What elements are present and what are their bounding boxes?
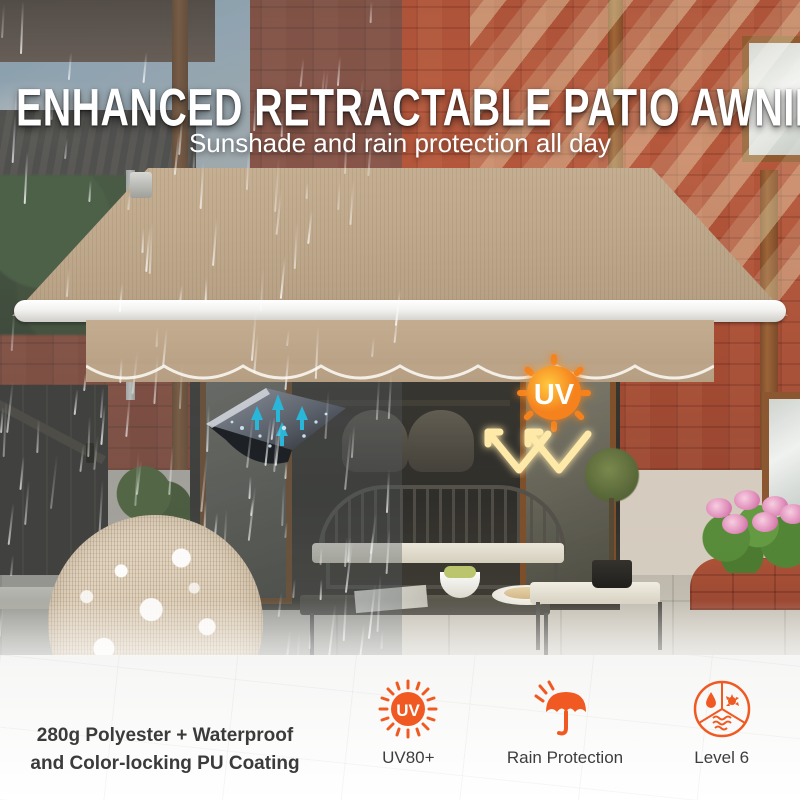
uv-badge-label: UV xyxy=(534,379,575,411)
rain-drop xyxy=(282,484,286,526)
rain-drop xyxy=(93,435,99,470)
page-subtitle: Sunshade and rain protection all day xyxy=(0,128,800,159)
rain-drop xyxy=(23,152,28,204)
rain-drop xyxy=(142,227,145,252)
rain-drop xyxy=(87,416,91,457)
rain-drop xyxy=(154,355,159,404)
rain-drop xyxy=(344,431,352,490)
uv-sun-icon: UV xyxy=(462,350,646,478)
rain-drop xyxy=(80,445,85,472)
water-drop-icon xyxy=(706,692,716,708)
rain-drop xyxy=(118,283,122,312)
rain-drop xyxy=(285,354,290,390)
rain-drop xyxy=(386,470,390,513)
rain-drop xyxy=(98,480,103,535)
rain-drop xyxy=(246,416,254,468)
rain-drop xyxy=(376,377,380,420)
rain-drop xyxy=(294,221,299,269)
feature-level-6: Level 6 xyxy=(643,678,800,768)
feature-row: 280g Polyester + Waterproof and Color-lo… xyxy=(0,678,800,800)
rain-drop xyxy=(292,579,296,598)
rain-drop xyxy=(325,390,330,439)
rain-drop xyxy=(20,456,25,490)
rain-drop xyxy=(259,267,264,311)
umbrella-rain-icon xyxy=(534,678,596,740)
uv-sun-icon: UV xyxy=(378,678,438,740)
rain-drop xyxy=(307,210,313,244)
rain-drop xyxy=(1,4,5,38)
rain-drop xyxy=(7,381,15,433)
splash-icon xyxy=(726,694,739,706)
rain-drop xyxy=(394,315,399,343)
rain-drop xyxy=(369,513,376,563)
page-title: ENHANCED RETRACTABLE PATIO AWNING xyxy=(0,78,800,125)
rain-drop xyxy=(155,326,158,347)
feature-label: Rain Protection xyxy=(507,748,623,768)
rain-drop xyxy=(350,179,355,225)
rain-drop xyxy=(50,454,58,509)
rain-drop xyxy=(204,278,207,303)
rain-drop xyxy=(168,445,174,495)
product-marketing-image: UV ENHANCED RETRACTABLE PATIO AWNING Sun… xyxy=(0,0,800,800)
rain-drop xyxy=(286,329,290,347)
rain-drop xyxy=(385,529,390,574)
rain-drop xyxy=(66,268,70,297)
rain-drop xyxy=(212,217,218,266)
rain-drop xyxy=(306,182,309,199)
rain-drop xyxy=(337,181,341,210)
rain-drop xyxy=(319,579,322,600)
rain-drop xyxy=(10,555,14,576)
uv-icon-label: UV xyxy=(397,701,421,720)
rain-drop xyxy=(83,372,87,390)
rain-drop xyxy=(370,1,373,23)
rain-drop xyxy=(319,547,322,565)
fabric-caption-line1: 280g Polyester + Waterproof xyxy=(0,722,330,750)
rain-drop xyxy=(350,425,354,458)
rain-drop xyxy=(125,396,131,437)
rain-drop xyxy=(284,461,287,479)
feature-label: UV80+ xyxy=(382,748,434,768)
rain-drop xyxy=(131,351,138,394)
feature-rain-protection: Rain Protection xyxy=(487,678,644,768)
rain-drop xyxy=(88,180,91,202)
rain-drop xyxy=(199,161,204,208)
rain-drop xyxy=(265,418,272,466)
rain-drop xyxy=(371,336,375,357)
rain-drop xyxy=(8,503,15,545)
feature-label: Level 6 xyxy=(694,748,749,768)
uv-reflect-arrows-icon xyxy=(488,432,588,470)
rain-drop xyxy=(206,405,210,452)
rain-drop xyxy=(179,285,183,303)
weather-resistance-level-icon xyxy=(693,678,751,740)
rain-drop xyxy=(284,522,287,539)
fabric-caption: 280g Polyester + Waterproof and Color-lo… xyxy=(0,678,330,777)
rain-drop xyxy=(20,1,24,54)
rain-drop xyxy=(179,364,183,409)
rain-drop xyxy=(24,479,30,524)
rain-drop xyxy=(162,328,168,366)
rain-drop xyxy=(248,476,251,499)
rain-drop xyxy=(279,256,285,299)
rain-drop xyxy=(388,373,392,419)
rain-drop xyxy=(67,51,71,79)
fabric-caption-line2: and Color-locking PU Coating xyxy=(0,750,330,778)
wind-waves-icon xyxy=(713,717,731,730)
rain-drop xyxy=(127,191,130,210)
rain-drop xyxy=(36,419,39,453)
rain-drop xyxy=(119,357,123,382)
feature-uv80: UV UV80+ xyxy=(330,678,487,768)
rain-drop xyxy=(314,325,318,379)
rain-drop xyxy=(11,310,16,351)
rain-drop xyxy=(74,389,79,415)
